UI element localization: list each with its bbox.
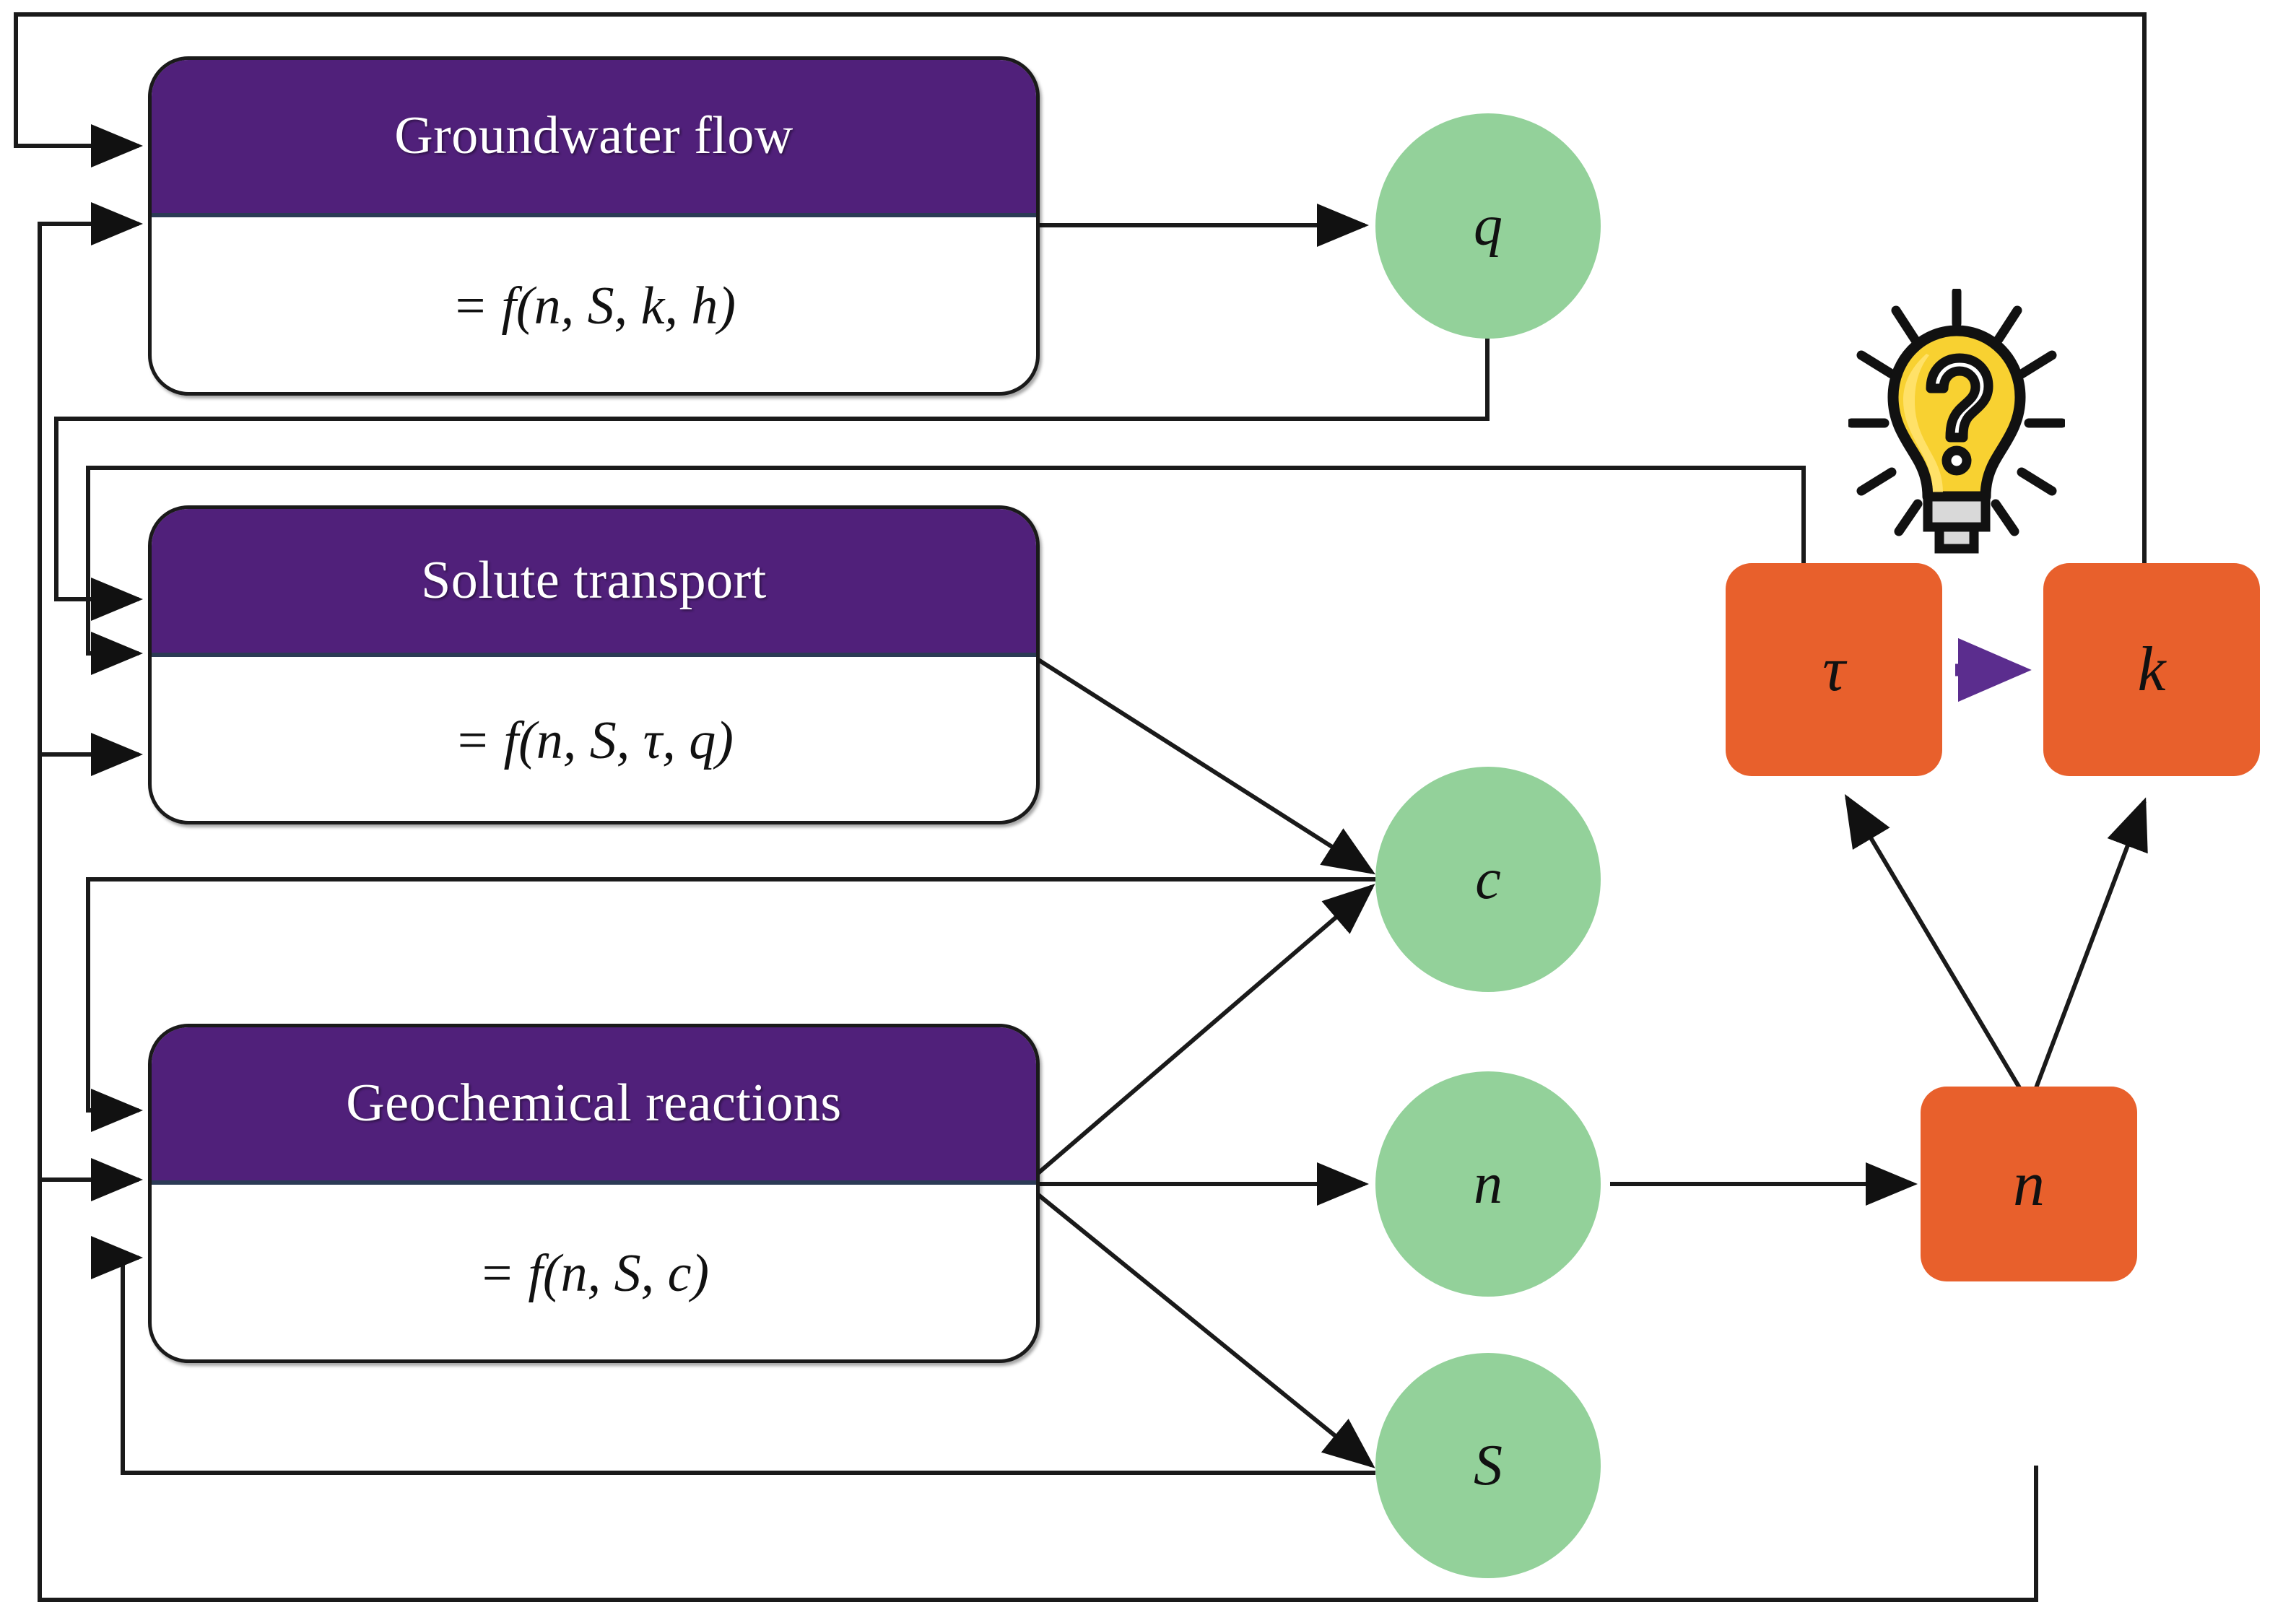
conn-S-to-groundwater-flow bbox=[40, 224, 2036, 1600]
process-header-groundwater-flow: Groundwater flow bbox=[152, 60, 1036, 217]
state-circle-n[interactable]: n bbox=[1375, 1071, 1601, 1297]
state-circle-S[interactable]: S bbox=[1375, 1353, 1601, 1578]
conn-n-property-to-tau bbox=[1847, 798, 2025, 1097]
conn-n-property-to-k bbox=[2032, 801, 2144, 1097]
process-title: Groundwater flow bbox=[394, 105, 793, 167]
conn-geochemical-reactions-to-S bbox=[1034, 1191, 1372, 1466]
process-title: Geochemical reactions bbox=[346, 1073, 841, 1134]
question-lightbulb-icon bbox=[1848, 289, 2065, 556]
conn-geochemical-reactions-to-c bbox=[1034, 887, 1372, 1177]
process-box-geochemical-reactions[interactable]: Geochemical reactions = f(n, S, c) bbox=[148, 1024, 1040, 1363]
state-circle-q[interactable]: q bbox=[1375, 113, 1601, 339]
property-box-k[interactable]: k bbox=[2043, 563, 2260, 776]
bulb-question-dot bbox=[1947, 450, 1967, 471]
process-equation-row: = f(n, S, k, h) bbox=[152, 217, 1036, 396]
diagram-canvas: Groundwater flow = f(n, S, k, h) Solute … bbox=[0, 0, 2296, 1615]
process-title: Solute transport bbox=[421, 550, 767, 611]
process-box-solute-transport[interactable]: Solute transport = f(n, S, τ, q) bbox=[148, 505, 1040, 824]
process-equation: = f(n, S, k, h) bbox=[452, 276, 736, 337]
property-label: n bbox=[2013, 1148, 2045, 1221]
state-label: S bbox=[1474, 1433, 1503, 1499]
property-label: τ bbox=[1822, 633, 1845, 706]
process-equation-row: = f(n, S, τ, q) bbox=[152, 657, 1036, 824]
state-label: c bbox=[1475, 847, 1501, 913]
state-label: n bbox=[1474, 1152, 1503, 1217]
property-box-tau[interactable]: τ bbox=[1726, 563, 1942, 776]
process-box-groundwater-flow[interactable]: Groundwater flow = f(n, S, k, h) bbox=[148, 56, 1040, 396]
process-header-solute-transport: Solute transport bbox=[152, 509, 1036, 657]
process-equation-row: = f(n, S, c) bbox=[152, 1185, 1036, 1363]
state-label: q bbox=[1474, 193, 1503, 259]
property-label: k bbox=[2137, 633, 2165, 706]
process-equation: = f(n, S, τ, q) bbox=[454, 710, 734, 772]
conn-solute-transport-to-c bbox=[1034, 657, 1372, 872]
state-circle-c[interactable]: c bbox=[1375, 767, 1601, 992]
process-equation: = f(n, S, c) bbox=[479, 1243, 709, 1305]
process-header-geochemical-reactions: Geochemical reactions bbox=[152, 1027, 1036, 1185]
property-box-n[interactable]: n bbox=[1921, 1087, 2137, 1281]
bulb-contact bbox=[1939, 527, 1974, 549]
